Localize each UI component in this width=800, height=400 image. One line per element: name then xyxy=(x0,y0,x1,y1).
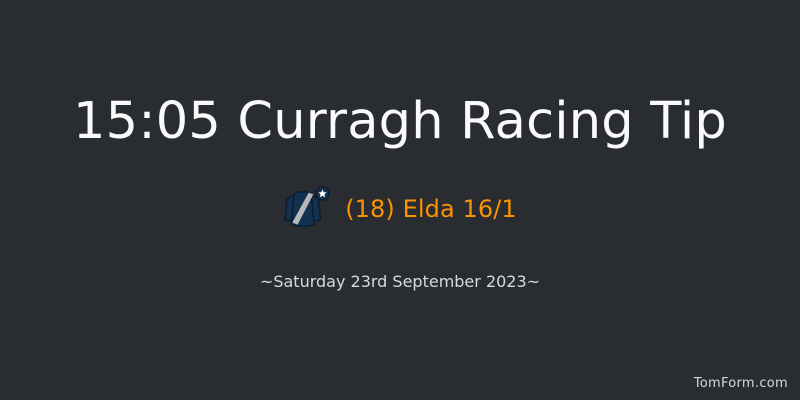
page-title: 15:05 Curragh Racing Tip xyxy=(0,96,800,147)
jockey-silks-icon xyxy=(283,186,331,232)
tip-selection-row: (18) Elda 16/1 xyxy=(0,186,800,232)
tip-selection-label: (18) Elda 16/1 xyxy=(345,196,517,222)
racing-tip-card: 15:05 Curragh Racing Tip (18) Elda 16/1 … xyxy=(0,0,800,400)
race-date: ~Saturday 23rd September 2023~ xyxy=(0,272,800,291)
site-watermark: TomForm.com xyxy=(694,376,788,392)
